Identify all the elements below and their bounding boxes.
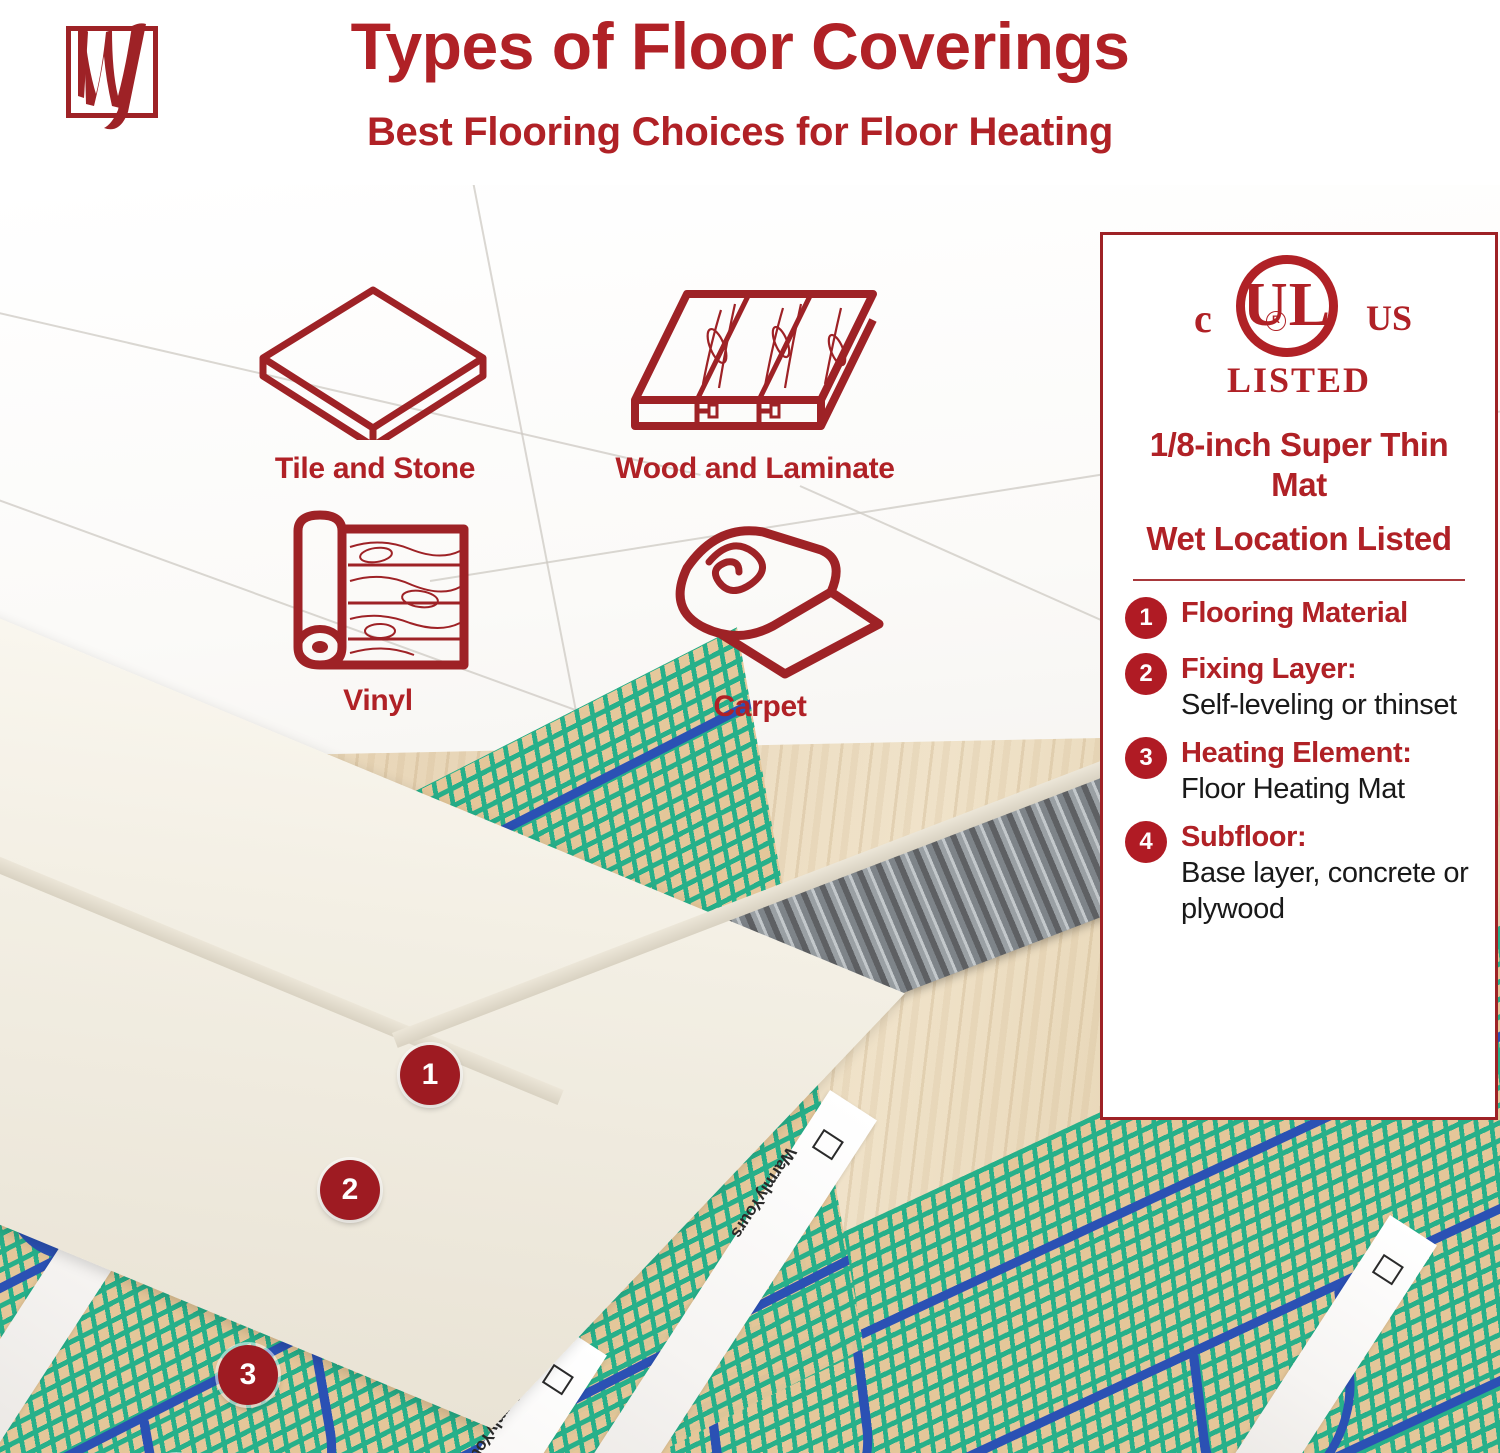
ul-listed-text: LISTED [1125, 359, 1473, 401]
legend-number: 2 [1125, 653, 1167, 695]
flooring-type-label: Carpet [610, 689, 910, 725]
legend-item-3: 3 Heating Element: Floor Heating Mat [1125, 735, 1473, 807]
wood-laminate-icon [555, 275, 955, 445]
brand-logo [44, 14, 172, 134]
legend-description: Base layer, concrete or plywood [1181, 855, 1473, 927]
legend-title: Flooring Material [1181, 595, 1473, 631]
callout-badge-1: 1 [400, 1045, 460, 1105]
legend-title: Fixing Layer: [1181, 651, 1473, 687]
legend-description: Self-leveling or thinset [1181, 687, 1473, 723]
ul-certification: c UL R US LISTED [1125, 255, 1473, 407]
flooring-types-grid: Tile and Stone Wood and Laminate [210, 275, 970, 775]
legend-title: Heating Element: [1181, 735, 1473, 771]
callout-badge-2: 2 [320, 1160, 380, 1220]
wy-logo-icon [812, 1129, 844, 1161]
legend-item-4: 4 Subfloor: Base layer, concrete or plyw… [1125, 819, 1473, 927]
product-info-panel: c UL R US LISTED 1/8-inch Super Thin Mat… [1100, 232, 1498, 1120]
ul-us-letters: US [1366, 297, 1412, 339]
legend-description: Floor Heating Mat [1181, 771, 1473, 807]
page-title: Types of Floor Coverings [180, 8, 1300, 84]
header: Types of Floor Coverings Best Flooring C… [0, 0, 1500, 185]
legend-item-2: 2 Fixing Layer: Self-leveling or thinset [1125, 651, 1473, 723]
infographic-root: WarmlyYours WarmlyYours WarmlyYours 1 2 … [0, 0, 1500, 1453]
panel-headline-thin-mat: 1/8-inch Super Thin Mat [1125, 425, 1473, 505]
page-subtitle: Best Flooring Choices for Floor Heating [180, 108, 1300, 156]
flooring-type-tile-stone: Tile and Stone [210, 275, 540, 487]
wy-logo-icon [1372, 1254, 1404, 1286]
legend-body: Heating Element: Floor Heating Mat [1181, 735, 1473, 807]
legend-body: Fixing Layer: Self-leveling or thinset [1181, 651, 1473, 723]
flooring-type-label: Wood and Laminate [555, 451, 955, 487]
legend-body: Subfloor: Base layer, concrete or plywoo… [1181, 819, 1473, 927]
ul-letters: UL [1236, 261, 1338, 353]
legend-number: 3 [1125, 737, 1167, 779]
ul-c-letter: c [1194, 295, 1212, 342]
flooring-type-label: Vinyl [228, 683, 528, 719]
wy-monogram-icon [54, 8, 174, 134]
flooring-type-vinyl: Vinyl [228, 507, 528, 719]
panel-divider [1133, 579, 1465, 581]
carpet-roll-icon [610, 513, 910, 683]
legend-number: 1 [1125, 597, 1167, 639]
legend-body: Flooring Material [1181, 595, 1473, 631]
callout-badge-3: 3 [218, 1345, 278, 1405]
panel-headline-wet-location: Wet Location Listed [1125, 519, 1473, 559]
legend-item-1: 1 Flooring Material [1125, 595, 1473, 639]
ul-listed-icon: c UL R US [1180, 255, 1418, 355]
flooring-type-label: Tile and Stone [210, 451, 540, 487]
flooring-type-wood-laminate: Wood and Laminate [555, 275, 955, 487]
flooring-type-carpet: Carpet [610, 513, 910, 725]
legend-title: Subfloor: [1181, 819, 1473, 855]
legend-number: 4 [1125, 821, 1167, 863]
vinyl-roll-icon [228, 507, 528, 677]
registered-trademark-icon: R [1266, 311, 1286, 331]
tile-stone-icon [210, 275, 540, 445]
